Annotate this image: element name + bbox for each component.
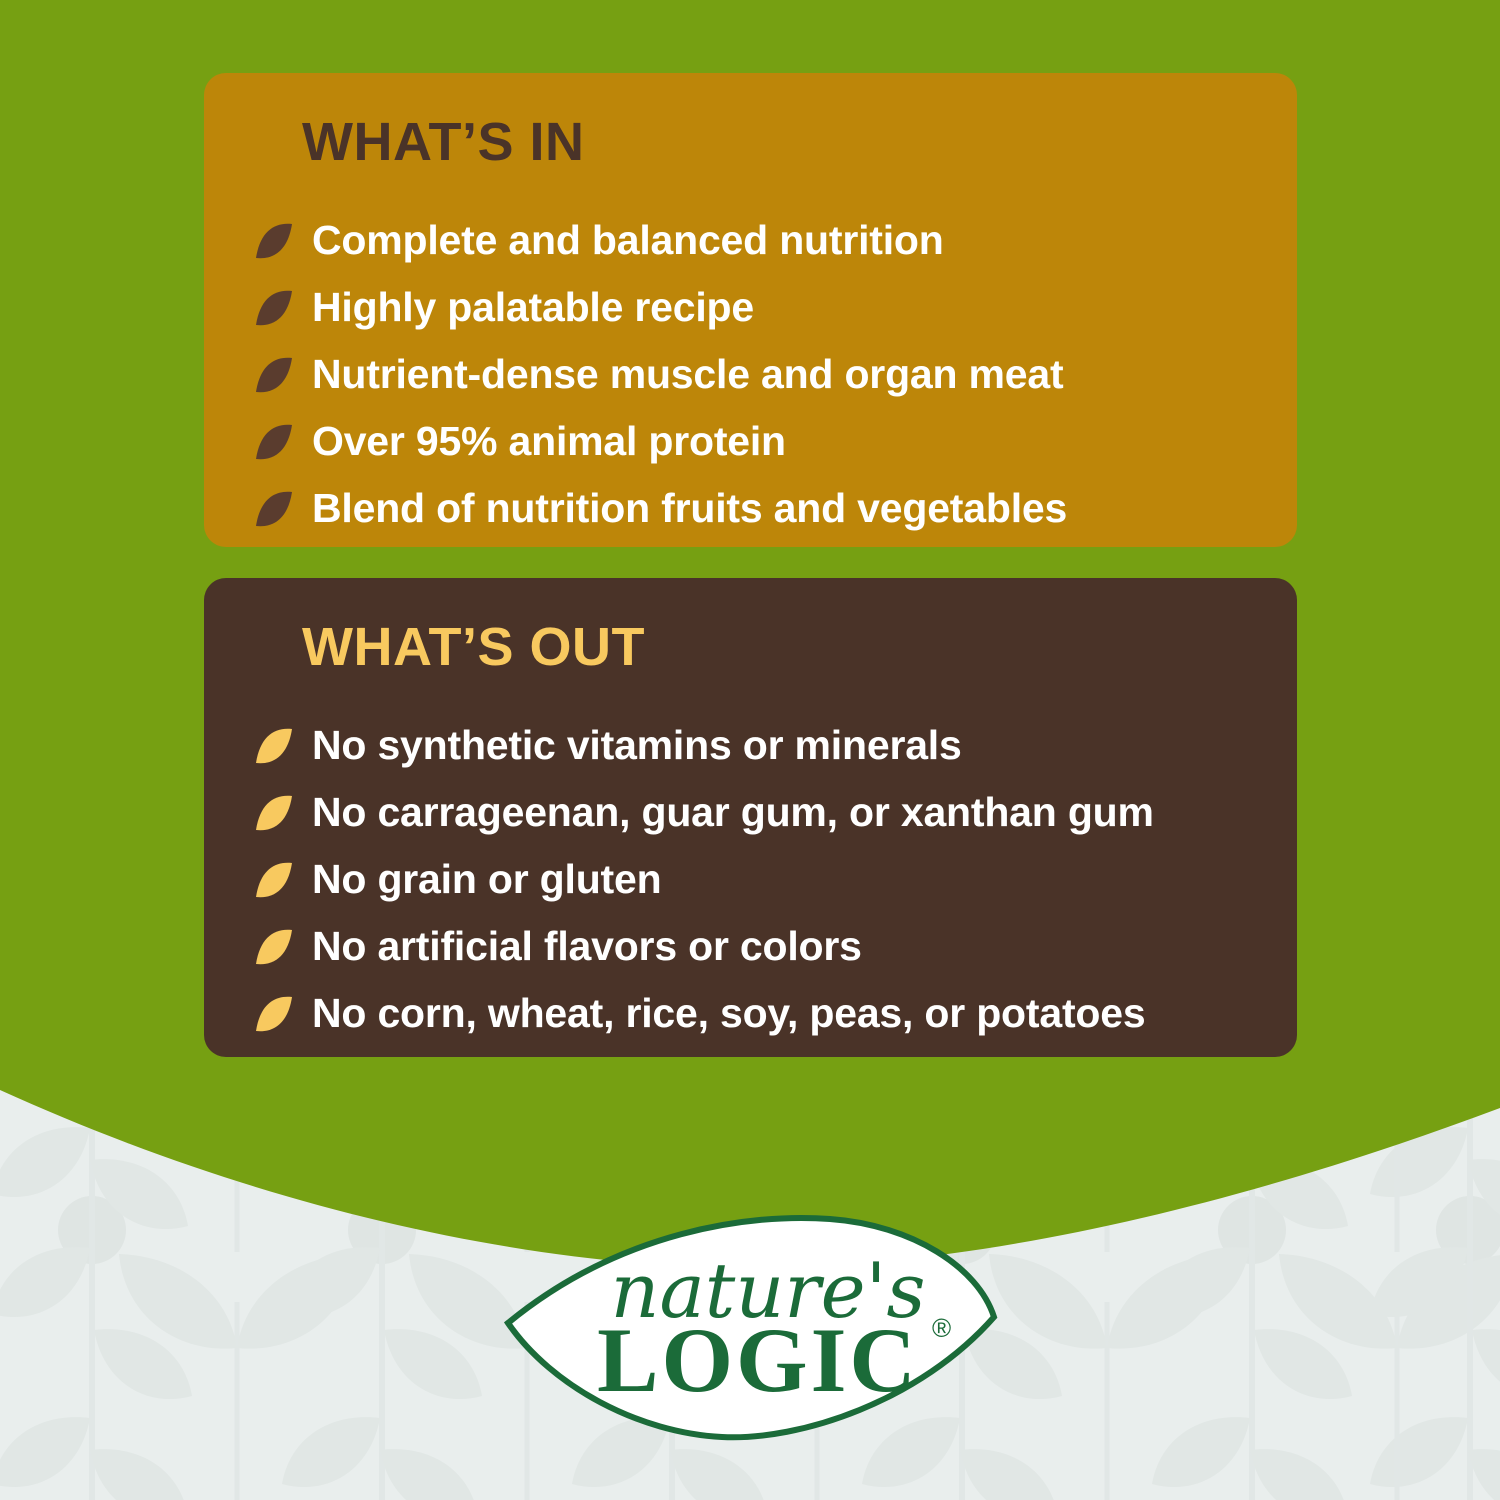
- list-item: Nutrient-dense muscle and organ meat: [252, 341, 1251, 408]
- whats-in-title: WHAT’S IN: [302, 115, 1251, 169]
- leaf-icon: [252, 286, 296, 330]
- leaf-icon: [252, 487, 296, 531]
- list-item-label: Complete and balanced nutrition: [312, 219, 944, 262]
- whats-in-list: Complete and balanced nutrition Highly p…: [252, 207, 1251, 542]
- list-item-label: Highly palatable recipe: [312, 286, 754, 329]
- list-item-label: No grain or gluten: [312, 858, 661, 901]
- leaf-icon: [252, 858, 296, 902]
- logo-block-text: LOGIC: [597, 1309, 919, 1411]
- list-item: No artificial flavors or colors: [252, 913, 1251, 980]
- promo-graphic: WHAT’S IN Complete and balanced nutritio…: [0, 0, 1500, 1500]
- list-item-label: No synthetic vitamins or minerals: [312, 724, 962, 767]
- list-item-label: No corn, wheat, rice, soy, peas, or pota…: [312, 992, 1145, 1035]
- list-item-label: Blend of nutrition fruits and vegetables: [312, 487, 1067, 530]
- list-item: Over 95% animal protein: [252, 408, 1251, 475]
- whats-out-title: WHAT’S OUT: [302, 620, 1251, 674]
- list-item: No carrageenan, guar gum, or xanthan gum: [252, 779, 1251, 846]
- whats-in-card: WHAT’S IN Complete and balanced nutritio…: [204, 73, 1297, 547]
- list-item: No synthetic vitamins or minerals: [252, 712, 1251, 779]
- leaf-icon: [252, 992, 296, 1036]
- leaf-icon: [252, 353, 296, 397]
- list-item: No grain or gluten: [252, 846, 1251, 913]
- list-item: Blend of nutrition fruits and vegetables: [252, 475, 1251, 542]
- list-item-label: Nutrient-dense muscle and organ meat: [312, 353, 1063, 396]
- leaf-icon: [252, 420, 296, 464]
- registered-mark-icon: ®: [932, 1313, 951, 1343]
- list-item-label: No carrageenan, guar gum, or xanthan gum: [312, 791, 1154, 834]
- leaf-icon: [252, 925, 296, 969]
- list-item-label: No artificial flavors or colors: [312, 925, 862, 968]
- leaf-icon: [252, 219, 296, 263]
- list-item: Complete and balanced nutrition: [252, 207, 1251, 274]
- brand-logo: nature's LOGIC ®: [500, 1205, 1000, 1450]
- list-item: Highly palatable recipe: [252, 274, 1251, 341]
- whats-out-list: No synthetic vitamins or minerals No car…: [252, 712, 1251, 1047]
- list-item: No corn, wheat, rice, soy, peas, or pota…: [252, 980, 1251, 1047]
- whats-out-card: WHAT’S OUT No synthetic vitamins or mine…: [204, 578, 1297, 1057]
- leaf-icon: [252, 724, 296, 768]
- leaf-icon: [252, 791, 296, 835]
- list-item-label: Over 95% animal protein: [312, 420, 786, 463]
